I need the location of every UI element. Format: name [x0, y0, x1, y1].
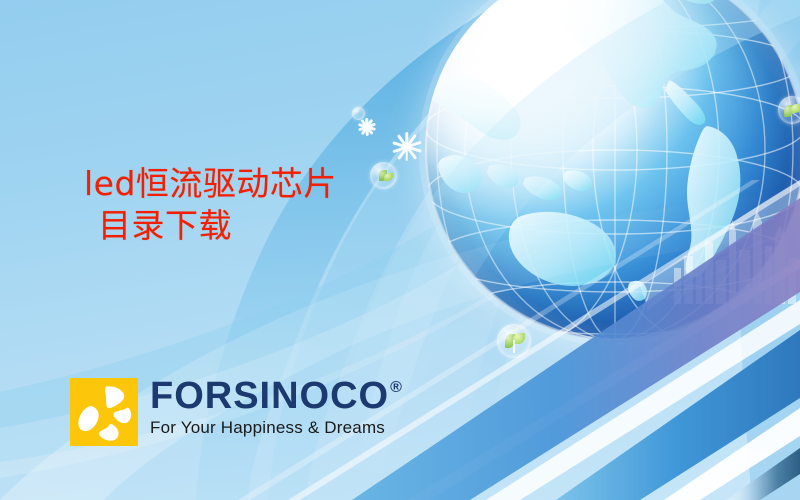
- headline-text: led恒流驱动芯片 目录下载: [84, 163, 504, 247]
- city-skyline-silhouette: [670, 212, 800, 304]
- leaf-stem: [513, 340, 515, 353]
- pinwheel-petals-svg: [70, 378, 138, 446]
- bubble-top-small: [352, 107, 365, 120]
- registered-trademark-icon: ®: [390, 380, 402, 396]
- headline-line-1: led恒流驱动芯片: [84, 163, 504, 205]
- starburst-small: [358, 118, 376, 136]
- logo-wordmark: FORSINOCO ® For Your Happiness & Dreams: [150, 378, 402, 438]
- city-skyline-svg: [670, 212, 800, 304]
- forsinoco-pinwheel-mark: [70, 378, 138, 446]
- bubble-leaf-center: [497, 324, 531, 358]
- brand-row: FORSINOCO ®: [150, 378, 402, 414]
- brand-name: FORSINOCO: [150, 378, 389, 414]
- leaf-shape: [791, 104, 800, 113]
- company-logo: FORSINOCO ® For Your Happiness & Dreams: [70, 378, 402, 446]
- brand-tagline: For Your Happiness & Dreams: [150, 418, 402, 438]
- banner-canvas: led恒流驱动芯片 目录下载 FORSINOCO ® For Your Happ…: [0, 0, 800, 500]
- starburst-large: [392, 132, 421, 161]
- bubble-right-edge: [778, 96, 800, 124]
- headline-line-2: 目录下载: [98, 205, 504, 247]
